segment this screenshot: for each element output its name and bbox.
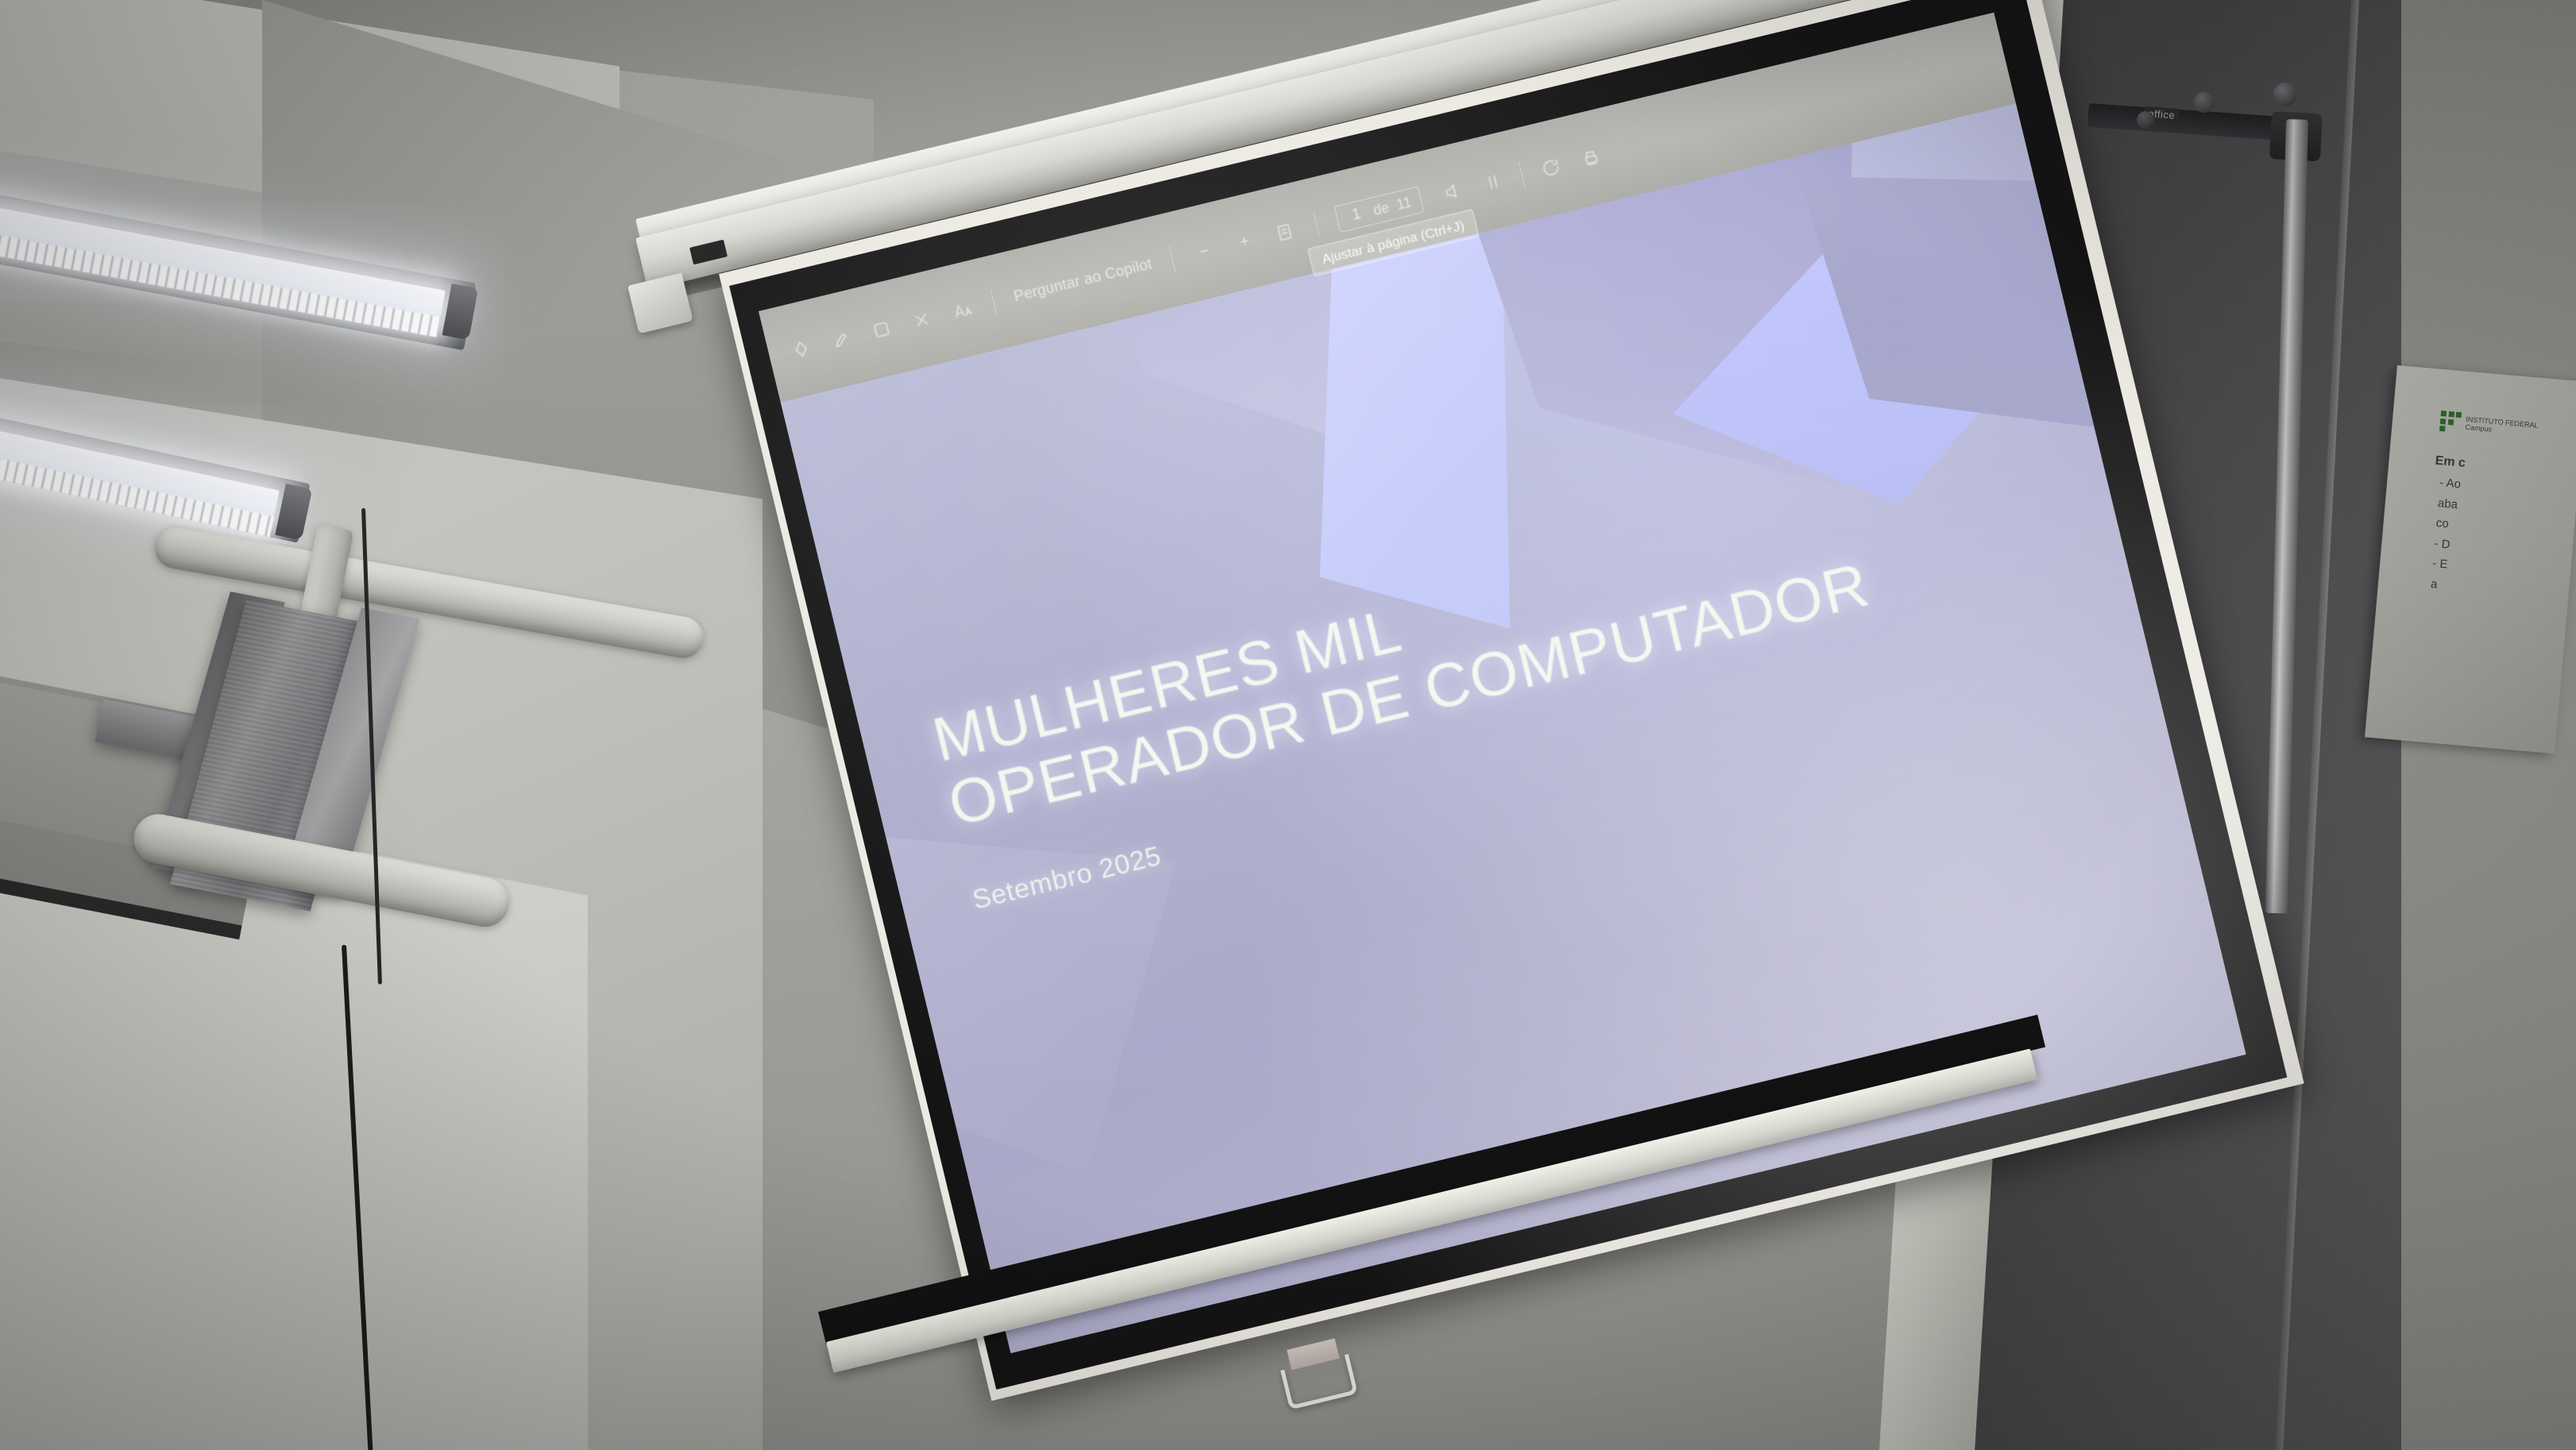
if-logo-icon xyxy=(2439,411,2462,433)
poster-bullet-list: - Ao aba co - D - E a xyxy=(2430,474,2566,604)
toolbar-divider xyxy=(1519,162,1526,188)
pause-icon[interactable] xyxy=(1478,168,1507,196)
highlight-icon[interactable] xyxy=(827,325,855,353)
read-aloud-icon[interactable] xyxy=(1439,177,1467,206)
zoom-in-button[interactable]: + xyxy=(1230,228,1259,256)
page-separator-label: de xyxy=(1372,199,1391,218)
toolbar-left-tools xyxy=(787,296,976,364)
toolbar-divider xyxy=(1169,246,1176,272)
erase-icon[interactable] xyxy=(907,306,936,334)
poster-text: Em c - Ao aba co - D - E a xyxy=(2423,452,2569,604)
screenshot-root: office INSTITUTO FEDERAL Campus Em c - A… xyxy=(0,0,2576,1450)
rotate-icon[interactable] xyxy=(1536,153,1565,182)
toolbar-zoom-controls: − + xyxy=(1190,218,1299,266)
page-number-input[interactable]: 1 xyxy=(1346,204,1369,226)
toolbar-view-tools xyxy=(1438,142,1605,207)
toolbar-divider xyxy=(991,289,998,315)
text-style-icon[interactable] xyxy=(948,296,976,325)
institution-name: INSTITUTO FEDERAL Campus xyxy=(2465,415,2539,438)
print-icon[interactable] xyxy=(1577,144,1605,172)
text-tool-icon[interactable] xyxy=(867,315,896,344)
fit-to-page-icon[interactable] xyxy=(1270,218,1299,246)
toolbar-divider xyxy=(1313,211,1320,237)
page-total-label: 11 xyxy=(1395,194,1413,214)
institution-logo: INSTITUTO FEDERAL Campus xyxy=(2439,411,2573,442)
zoom-out-button[interactable]: − xyxy=(1190,237,1218,266)
pan-tool-icon[interactable] xyxy=(787,335,816,364)
copilot-button-label[interactable]: Perguntar ao Copilot xyxy=(1012,256,1153,306)
wall-poster: INSTITUTO FEDERAL Campus Em c - Ao aba c… xyxy=(2365,365,2576,754)
